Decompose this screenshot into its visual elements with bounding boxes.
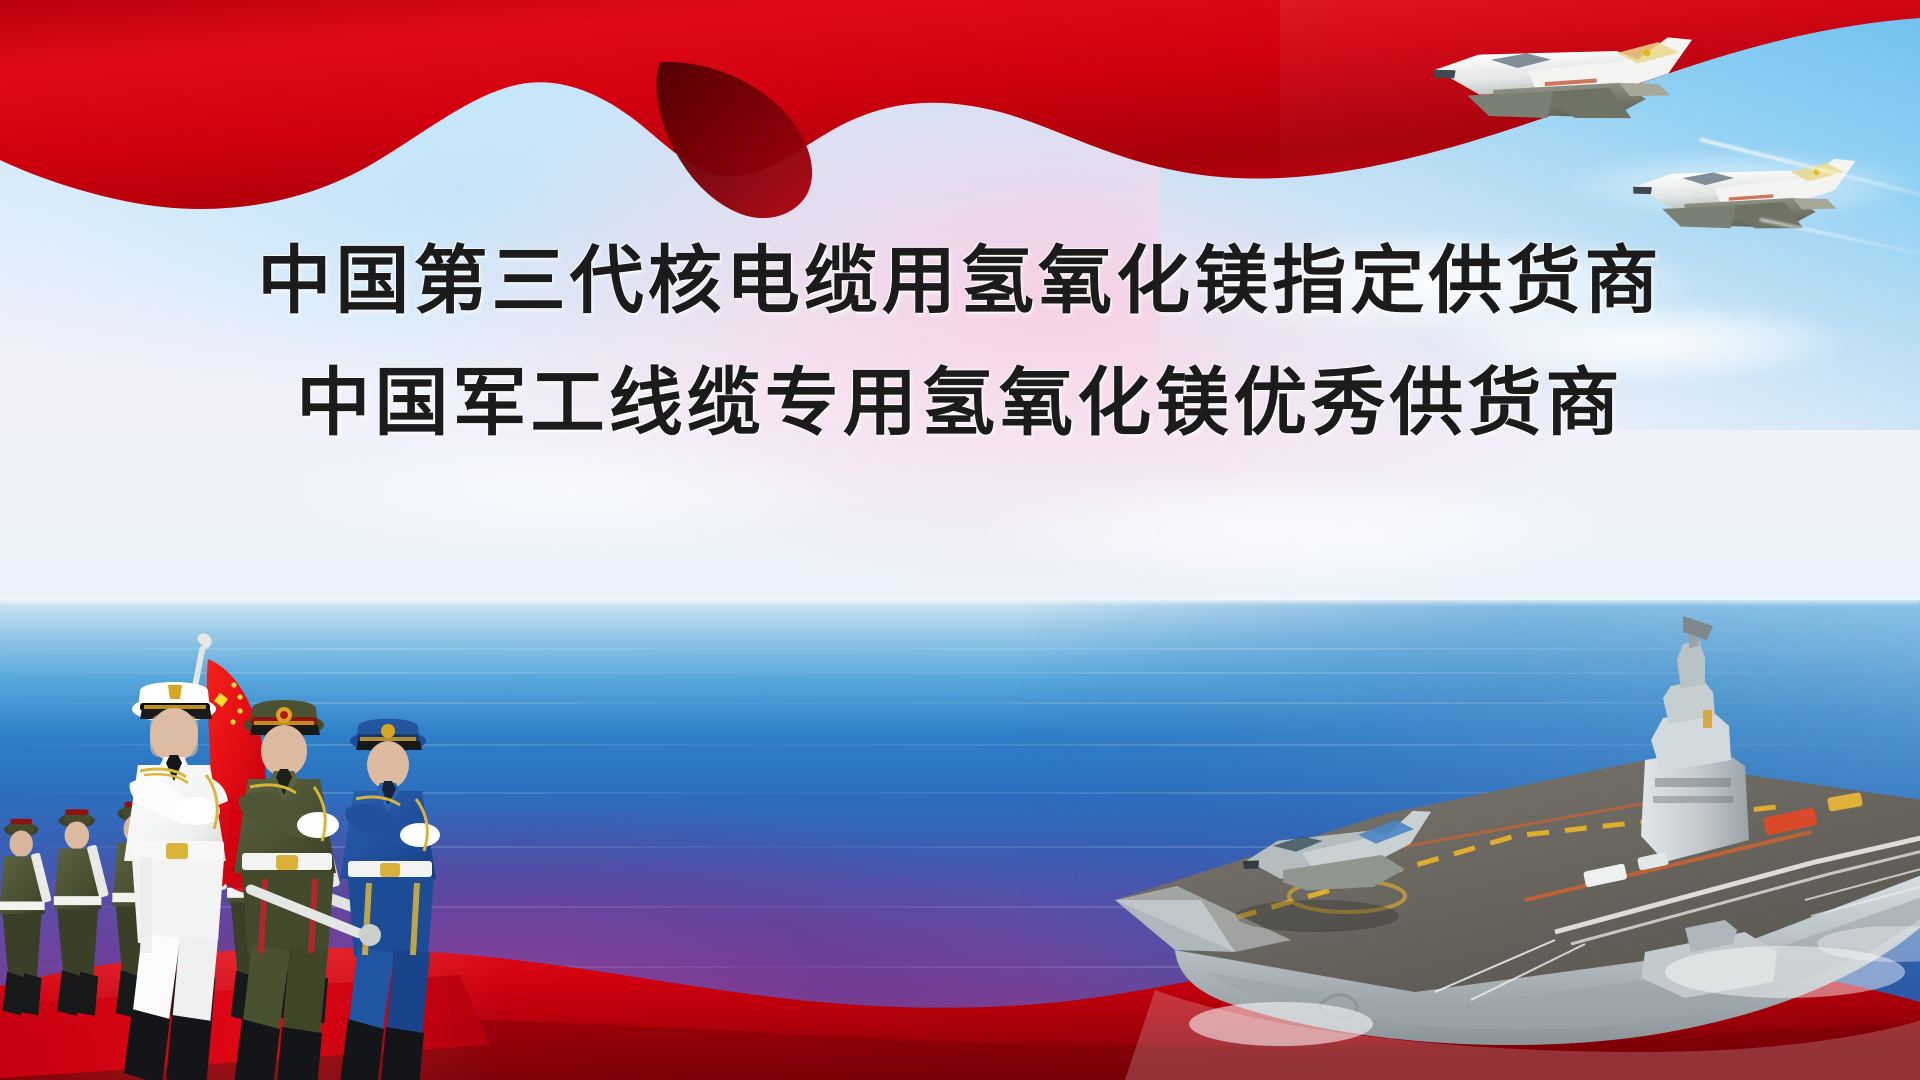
radar-panel	[1683, 616, 1713, 640]
flag-star-small	[231, 682, 236, 687]
rear-soldier	[0, 819, 52, 1016]
rear-soldier	[54, 809, 109, 1016]
honor-guard-svg	[0, 615, 510, 1080]
aircraft-carrier-svg	[1085, 600, 1920, 1080]
bow-foam	[1189, 1002, 1373, 1046]
fighter-jets-svg	[1380, 20, 1920, 250]
fighter-jet-group	[1380, 20, 1920, 250]
title-line-2: 中国军工线缆专用氢氧化镁优秀供货商	[0, 354, 1920, 452]
belt-buckle	[166, 843, 188, 859]
army-boot	[276, 1027, 322, 1080]
flag-star-small	[237, 694, 242, 699]
navy-boot	[166, 1015, 212, 1080]
banner-titles: 中国第三代核电缆用氢氧化镁指定供货商 中国军工线缆专用氢氧化镁优秀供货商	[0, 232, 1920, 451]
white-glove	[400, 823, 440, 847]
banner-stage: 中国第三代核电缆用氢氧化镁指定供货商 中国军工线缆专用氢氧化镁优秀供货商	[0, 0, 1920, 1080]
cap-badge	[168, 685, 182, 699]
white-glove	[176, 797, 220, 825]
airforce-boot	[380, 1027, 424, 1080]
army-boot	[234, 1019, 280, 1080]
aircraft-shadow	[1235, 900, 1399, 932]
belt-buckle	[276, 855, 298, 870]
island-superstructure	[1641, 616, 1749, 862]
white-glove	[297, 812, 339, 838]
honor-guard-group	[0, 615, 510, 1080]
title-line-1: 中国第三代核电缆用氢氧化镁指定供货商	[0, 232, 1920, 330]
fighter-jet-lead	[1432, 36, 1697, 132]
aircraft-carrier	[1085, 600, 1920, 1080]
cap-badge	[381, 724, 395, 738]
navy-boot	[124, 1009, 170, 1080]
signal-flag	[1703, 710, 1712, 728]
flag-star-small	[230, 719, 235, 724]
baton-ball	[359, 924, 381, 946]
airforce-trousers	[348, 877, 434, 957]
belt-buckle	[380, 863, 400, 877]
flag-star-small	[237, 708, 242, 713]
